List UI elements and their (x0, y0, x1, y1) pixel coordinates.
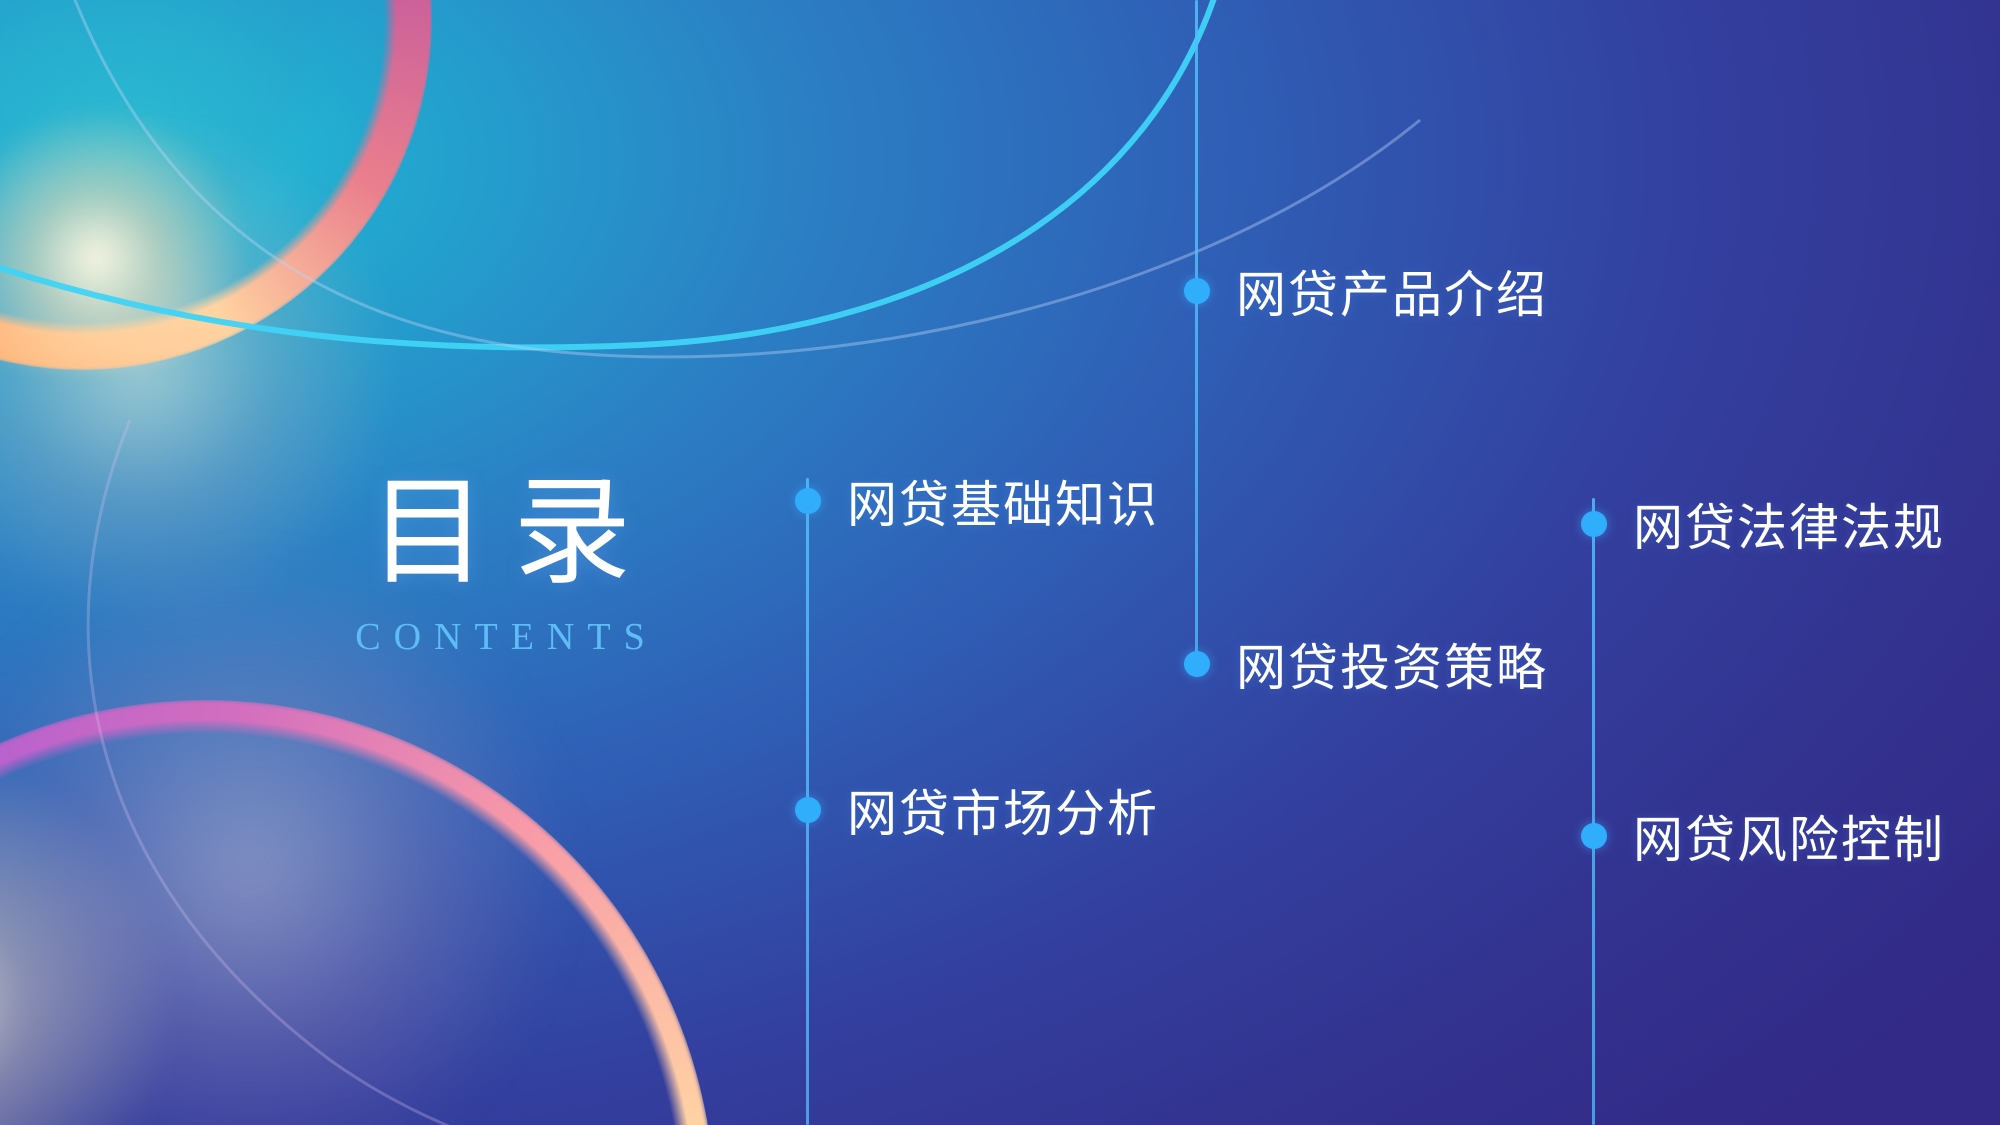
contents-item-basics[interactable]: 网贷基础知识 (795, 465, 1159, 537)
page-subtitle: CONTENTS (290, 615, 710, 659)
cyan-arc-line (0, 0, 1230, 347)
contents-item-risk-control[interactable]: 网贷风险控制 (1581, 800, 1945, 872)
decorative-ring-bottom-left-highlight (0, 700, 715, 1125)
contents-column-left: 网贷基础知识 网贷市场分析 (806, 0, 810, 1125)
contents-item-label: 网贷风险控制 (1633, 800, 1945, 872)
contents-slide: 目录 CONTENTS 网贷基础知识 网贷市场分析 网贷产品介绍 网贷投资策略 (0, 0, 2000, 1125)
contents-item-label: 网贷投资策略 (1236, 628, 1548, 700)
decorative-ring-top-left (0, 0, 432, 370)
contents-item-product-intro[interactable]: 网贷产品介绍 (1184, 255, 1548, 327)
decorative-ring-top-left-highlight (0, 0, 432, 370)
connector-line-middle (1195, 0, 1198, 660)
bullet-dot-icon (1184, 651, 1210, 677)
contents-item-label: 网贷法律法规 (1633, 488, 1945, 560)
title-block: 目录 CONTENTS (290, 470, 710, 659)
contents-item-label: 网贷基础知识 (847, 465, 1159, 537)
contents-item-label: 网贷市场分析 (847, 774, 1159, 846)
bullet-dot-icon (1184, 278, 1210, 304)
bullet-dot-icon (1581, 511, 1607, 537)
contents-item-laws-regulations[interactable]: 网贷法律法规 (1581, 488, 1945, 560)
bullet-dot-icon (795, 488, 821, 514)
contents-item-label: 网贷产品介绍 (1236, 255, 1548, 327)
contents-column-middle: 网贷产品介绍 网贷投资策略 (1195, 0, 1199, 1125)
contents-item-market-analysis[interactable]: 网贷市场分析 (795, 774, 1159, 846)
contents-item-investment-strategy[interactable]: 网贷投资策略 (1184, 628, 1548, 700)
bullet-dot-icon (795, 797, 821, 823)
decorative-ring-bottom-left (0, 700, 715, 1125)
contents-column-right: 网贷法律法规 网贷风险控制 (1592, 0, 1596, 1125)
page-title: 目录 (290, 470, 710, 597)
bullet-dot-icon (1581, 823, 1607, 849)
background-glow-teal (0, 0, 310, 260)
